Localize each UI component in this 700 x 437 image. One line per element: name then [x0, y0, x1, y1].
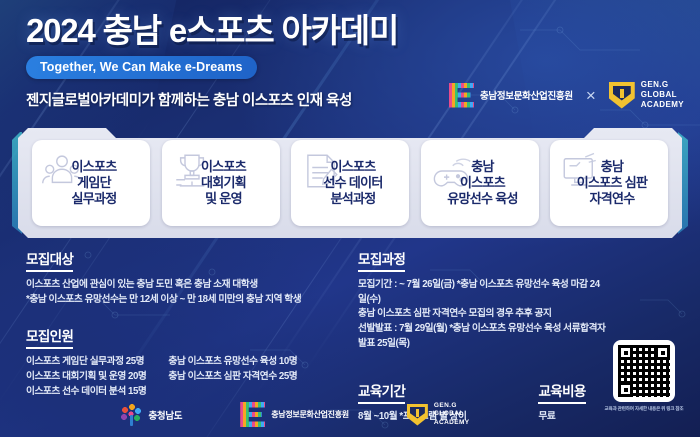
section-quota-col1: 이스포츠 게임단 실무과정 25명 이스포츠 대회기획 및 운영 20명 이스포… — [26, 355, 146, 399]
tagline-badge: Together, We Can Make e-Dreams — [26, 56, 257, 79]
section-quota: 모집인원 이스포츠 게임단 실무과정 25명 이스포츠 대회기획 및 운영 20… — [26, 325, 356, 399]
section-process-title: 모집과정 — [358, 248, 405, 272]
info-column-left: 모집대상 이스포츠 산업에 관심이 있는 충남 도민 혹은 충남 소재 대학생 … — [26, 248, 356, 414]
footer-logo-cncia-label: 충남정보문화산업진흥원 — [271, 409, 349, 420]
course-card-2[interactable]: 이스포츠 대회기획 및 운영 — [162, 140, 280, 226]
section-target-title: 모집대상 — [26, 248, 73, 272]
course-card-4-label: 충남 이스포츠 유망선수 육성 — [441, 159, 517, 207]
course-card-list: 이스포츠 게임단 실무과정 이스포츠 대회기획 및 운영 — [18, 128, 682, 238]
page-title: 2024 충남 e스포츠 아카데미 — [26, 14, 700, 47]
footer-geng-line-1: GEN.G — [434, 402, 470, 410]
footer-logo-geng: GEN.G GLOBAL ACADEMY — [407, 402, 470, 426]
qr-finder-top-left — [618, 345, 633, 360]
footer-geng-line-2: GLOBAL — [434, 410, 470, 418]
info-area: 모집대상 이스포츠 산업에 관심이 있는 충남 도민 혹은 충남 소재 대학생 … — [0, 248, 700, 403]
footer-logo-bar: 충청남도 충남정보문화산업진흥원 GEN.G GLOBAL ACADEMY — [0, 402, 700, 427]
qr-pattern — [618, 345, 670, 397]
qr-finder-top-right — [655, 345, 670, 360]
section-quota-columns: 이스포츠 게임단 실무과정 25명 이스포츠 대회기획 및 운영 20명 이스포… — [26, 355, 356, 399]
qr-finder-bottom-left — [618, 382, 633, 397]
header-partner-logos: 충남정보문화산업진흥원 × GEN.G GLOBAL ACADEMY — [449, 80, 684, 110]
chungnam-flower-icon — [120, 404, 142, 426]
section-target: 모집대상 이스포츠 산업에 관심이 있는 충남 도민 혹은 충남 소재 대학생 … — [26, 248, 356, 307]
footer-logo-chungnam: 충청남도 — [120, 404, 182, 426]
qr-code[interactable] — [613, 340, 675, 402]
info-column-right: 모집과정 모집기간 : ~ 7월 26일(금) *충남 이스포츠 유망선수 육성… — [358, 248, 608, 424]
geng-line-1: GEN.G — [641, 80, 684, 90]
cncia-logo: 충남정보문화산업진흥원 — [449, 83, 573, 108]
geng-shield-icon — [609, 82, 635, 109]
footer-logo-geng-label: GEN.G GLOBAL ACADEMY — [434, 402, 470, 426]
cncia-mark-icon-footer — [240, 402, 265, 427]
course-card-1-label: 이스포츠 게임단 실무과정 — [65, 159, 116, 207]
section-quota-title: 모집인원 — [26, 325, 73, 349]
poster-header: 2024 충남 e스포츠 아카데미 Together, We Can Make … — [0, 0, 700, 110]
partner-separator-icon: × — [586, 87, 596, 104]
section-quota-col2: 충남 이스포츠 유망선수 육성 10명 충남 이스포츠 심판 자격연수 25명 — [168, 355, 297, 399]
course-card-1[interactable]: 이스포츠 게임단 실무과정 — [32, 140, 150, 226]
course-card-5-label: 충남 이스포츠 심판 자격연수 — [571, 159, 647, 207]
section-target-body: 이스포츠 산업에 관심이 있는 충남 도민 혹은 충남 소재 대학생 *충남 이… — [26, 278, 356, 307]
section-cost-title: 교육비용 — [538, 380, 585, 404]
section-period-title: 교육기간 — [358, 380, 405, 404]
geng-logo-label: GEN.G GLOBAL ACADEMY — [641, 80, 684, 110]
footer-geng-line-3: ACADEMY — [434, 419, 470, 427]
poster-root: 2024 충남 e스포츠 아카데미 Together, We Can Make … — [0, 0, 700, 437]
geng-line-3: ACADEMY — [641, 100, 684, 110]
geng-line-2: GLOBAL — [641, 90, 684, 100]
course-card-3[interactable]: 이스포츠 선수 데이터 분석과정 — [291, 140, 409, 226]
course-card-2-label: 이스포츠 대회기획 및 운영 — [195, 159, 246, 207]
footer-logo-cncia: 충남정보문화산업진흥원 — [240, 402, 349, 427]
footer-logo-chungnam-label: 충청남도 — [148, 408, 182, 422]
cncia-logo-label: 충남정보문화산업진흥원 — [480, 88, 573, 102]
course-card-4[interactable]: 충남 이스포츠 유망선수 육성 — [421, 140, 539, 226]
cncia-mark-icon — [449, 83, 474, 108]
course-card-3-label: 이스포츠 선수 데이터 분석과정 — [317, 159, 382, 207]
section-process-body: 모집기간 : ~ 7월 26일(금) *충남 이스포츠 유망선수 육성 마감 2… — [358, 278, 608, 352]
course-card-5[interactable]: 충남 이스포츠 심판 자격연수 — [550, 140, 668, 226]
geng-logo: GEN.G GLOBAL ACADEMY — [609, 80, 684, 110]
section-process: 모집과정 모집기간 : ~ 7월 26일(금) *충남 이스포츠 유망선수 육성… — [358, 248, 608, 352]
geng-shield-icon-footer — [407, 404, 428, 426]
